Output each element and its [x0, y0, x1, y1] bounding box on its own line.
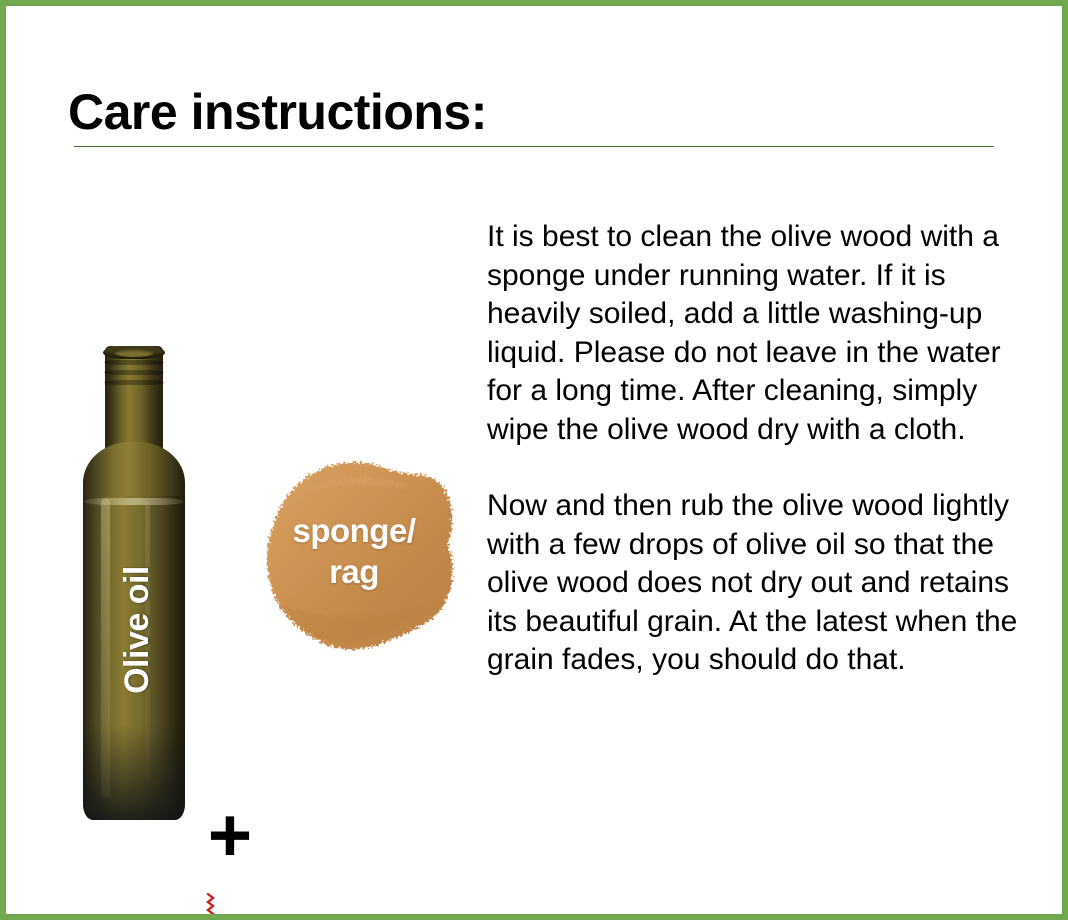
paragraph: Now and then rub the olive wood lightly …: [487, 487, 1027, 680]
bottle-thread: [104, 370, 164, 375]
bottle-mouth: [114, 348, 154, 357]
bottle-fill-line: [84, 498, 184, 505]
bottle-thread: [104, 360, 164, 365]
bottle-label-text: Olive oil: [118, 566, 157, 694]
bottle-thread: [104, 380, 164, 385]
care-instructions-page: Care instructions: Olive oil: [0, 0, 1068, 920]
page-title: Care instructions:: [68, 84, 487, 142]
bottle-label: Olive oil: [115, 550, 159, 710]
care-instructions-text: It is best to clean the olive wood with …: [487, 218, 1027, 680]
olive-oil-bottle-illustration: Olive oil: [81, 346, 187, 824]
sponge-label: sponge/ rag: [258, 510, 450, 592]
title-divider: [74, 146, 994, 147]
sponge-label-line-1: sponge/: [258, 510, 450, 551]
bottle-highlight: [101, 498, 110, 798]
illustration-panel: Olive oil +: [6, 336, 476, 836]
sponge-rag-illustration: sponge/ rag: [258, 454, 460, 666]
plus-operator: +: [202, 798, 258, 874]
spellcheck-squiggle-icon: [205, 893, 216, 920]
sponge-label-line-2: rag: [258, 551, 450, 592]
paragraph: It is best to clean the olive wood with …: [487, 218, 1027, 449]
